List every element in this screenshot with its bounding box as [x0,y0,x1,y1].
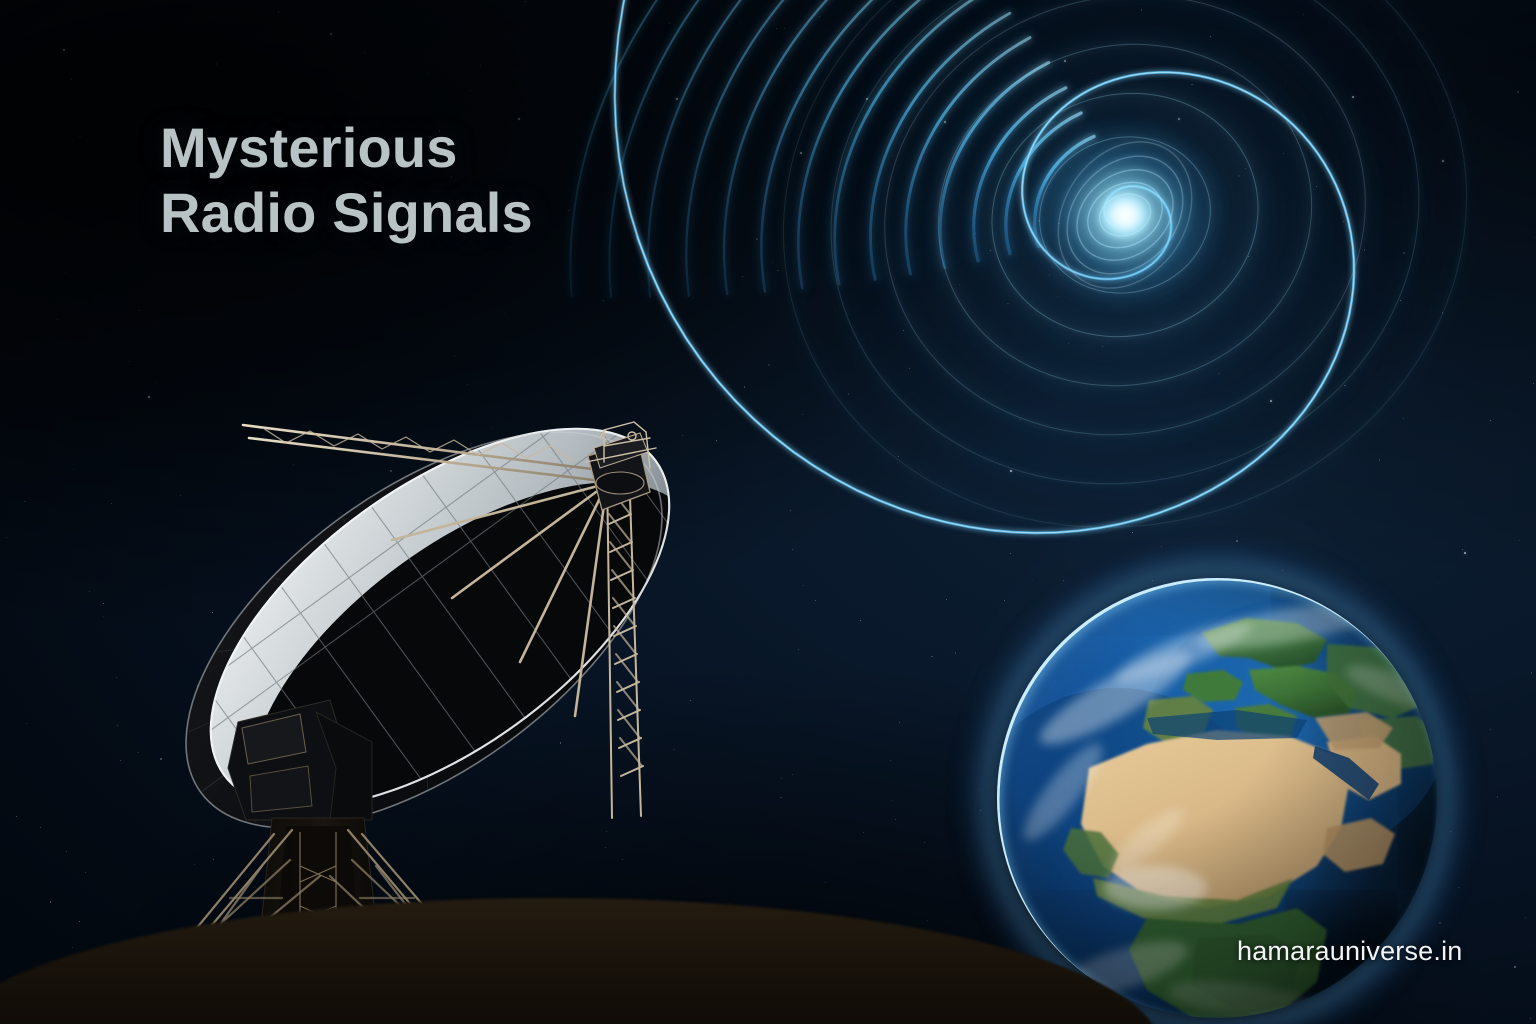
poster-canvas: Mysterious Radio Signals hamarauniverse.… [0,0,1536,1024]
site-watermark: hamarauniverse.in [1237,936,1463,967]
page-title: Mysterious Radio Signals [160,116,780,246]
